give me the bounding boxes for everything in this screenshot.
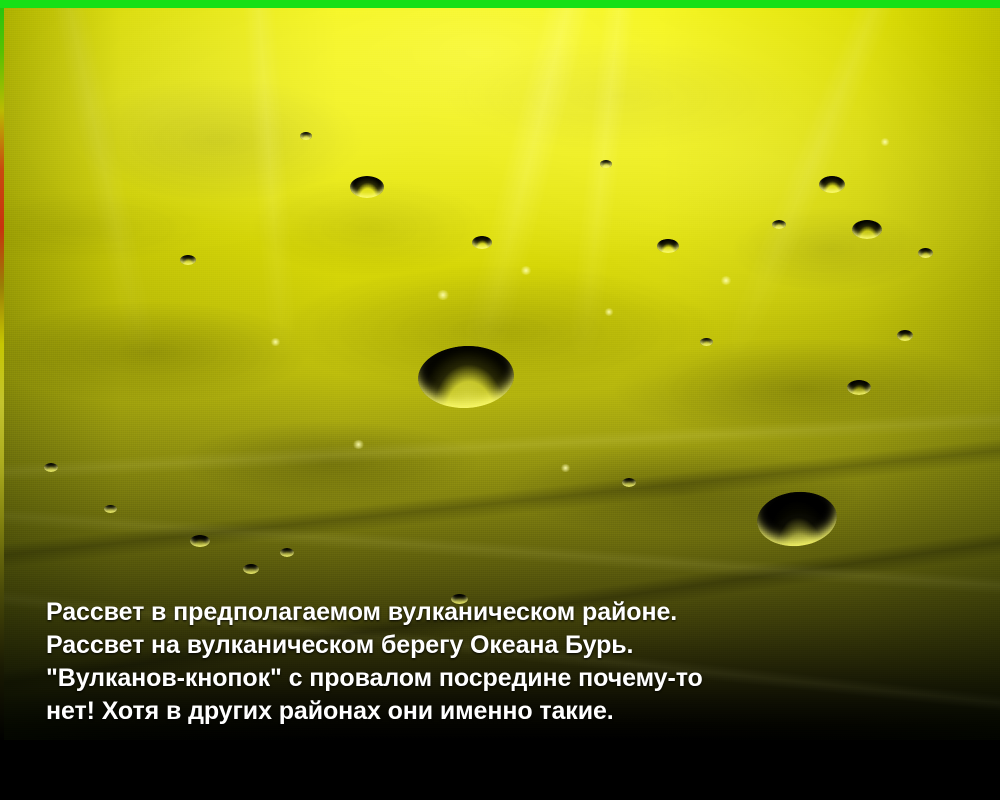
caption-line-1: Рассвет в предполагаемом вулканическом р… <box>46 596 703 629</box>
left-edge-chromatic-fringe <box>0 8 4 740</box>
screenshot-root: Рассвет в предполагаемом вулканическом р… <box>0 0 1000 800</box>
sunlit-peak <box>880 138 890 146</box>
caption-block: Рассвет в предполагаемом вулканическом р… <box>46 596 703 728</box>
crater-small <box>472 236 492 249</box>
sunlit-peak <box>520 266 532 275</box>
caption-line-4: нет! Хотя в других районах они именно та… <box>46 695 703 728</box>
crater-right-large-shadowed <box>754 488 839 550</box>
crater-central-large <box>416 344 515 411</box>
crater-small <box>819 176 845 193</box>
crater-small <box>180 255 196 265</box>
sunlit-peak <box>604 308 614 316</box>
caption-line-3: "Вулканов-кнопок" с провалом посредине п… <box>46 662 703 695</box>
crater-small <box>280 548 294 557</box>
crater-small <box>700 338 713 346</box>
crater-small <box>847 380 871 395</box>
crater-small <box>772 220 786 229</box>
crater-small <box>622 478 636 487</box>
sunlit-peak <box>352 440 365 449</box>
crater-small <box>104 505 117 513</box>
crater-small <box>300 132 312 140</box>
crater-small <box>190 535 210 547</box>
crater-small <box>600 160 612 168</box>
crater-small <box>918 248 933 258</box>
crater-small <box>897 330 913 341</box>
crater-small <box>852 220 882 239</box>
top-green-bar <box>0 0 1000 8</box>
sunlit-peak <box>720 276 732 285</box>
sunlit-peak <box>560 464 571 472</box>
caption-line-2: Рассвет на вулканическом берегу Океана Б… <box>46 629 703 662</box>
crater-small <box>243 564 259 574</box>
crater-small <box>44 463 58 472</box>
sunlit-peak <box>436 290 450 300</box>
crater-small <box>657 239 679 253</box>
crater-small <box>350 176 384 198</box>
sunlit-peak <box>270 338 281 346</box>
